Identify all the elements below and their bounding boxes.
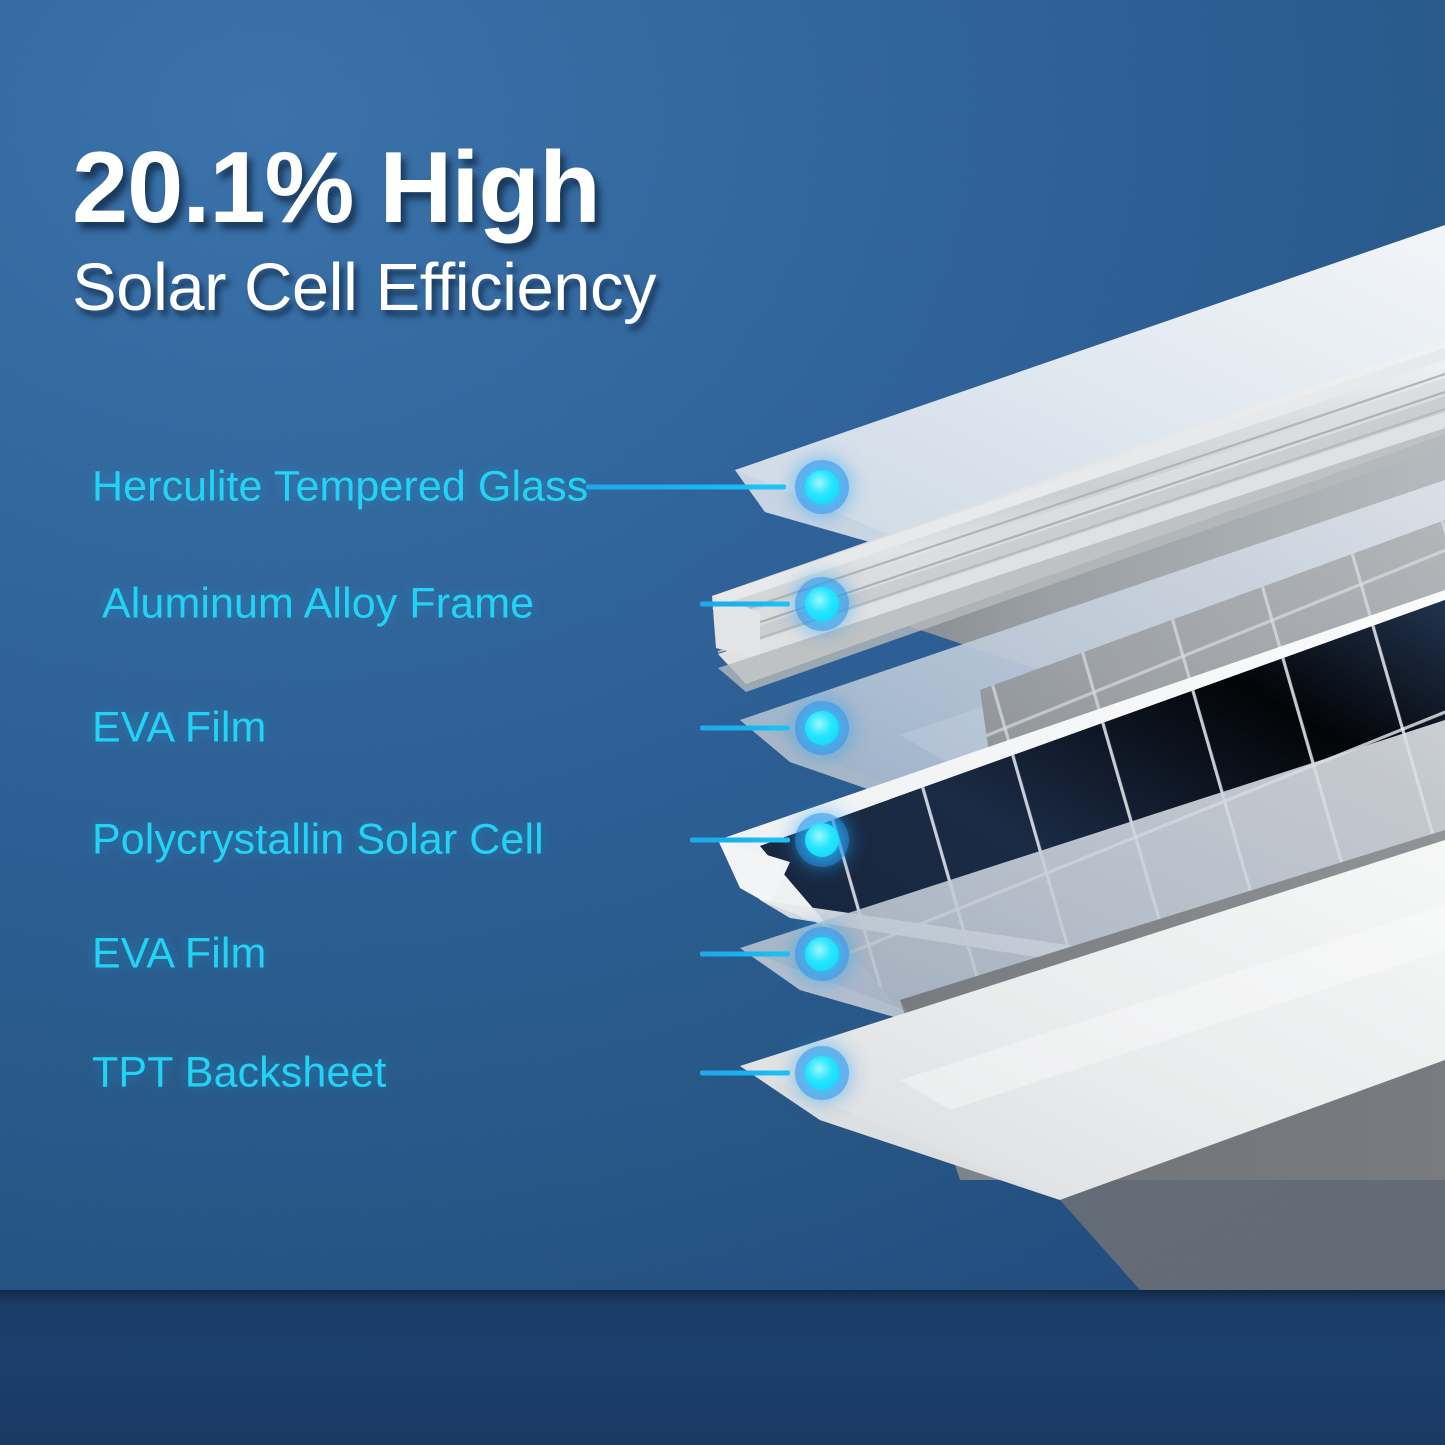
leader-line-eva-film-bottom bbox=[700, 952, 790, 957]
callout-label-eva-film-bottom: EVA Film bbox=[92, 930, 266, 979]
bottom-band-edge bbox=[0, 1290, 1445, 1304]
callout-label-herculite-tempered-glass: Herculite Tempered Glass bbox=[92, 463, 588, 512]
solar-panel-infographic: 20.1%High Solar Cell Efficiency Herculit… bbox=[0, 0, 1445, 1445]
callout-dot-aluminum-alloy-frame[interactable] bbox=[795, 577, 849, 631]
leader-line-herculite-tempered-glass bbox=[586, 485, 786, 490]
headline-block: 20.1%High Solar Cell Efficiency bbox=[72, 136, 892, 326]
callout-label-polycrystallin-solar-cell: Polycrystallin Solar Cell bbox=[92, 816, 544, 865]
callout-dot-eva-film-top[interactable] bbox=[795, 701, 849, 755]
leader-line-eva-film-top bbox=[700, 726, 790, 731]
callout-label-aluminum-alloy-frame: Aluminum Alloy Frame bbox=[102, 580, 534, 629]
headline-value: 20.1% bbox=[72, 132, 353, 244]
leader-line-tpt-backsheet bbox=[700, 1071, 790, 1076]
leader-line-aluminum-alloy-frame bbox=[700, 602, 790, 607]
callout-label-eva-film-top: EVA Film bbox=[92, 704, 266, 753]
leader-line-polycrystallin-solar-cell bbox=[690, 838, 790, 843]
callout-dot-tpt-backsheet[interactable] bbox=[795, 1046, 849, 1100]
headline-word: High bbox=[379, 132, 599, 244]
callout-dot-polycrystallin-solar-cell[interactable] bbox=[795, 813, 849, 867]
subheadline: Solar Cell Efficiency bbox=[72, 249, 892, 326]
callout-label-tpt-backsheet: TPT Backsheet bbox=[92, 1049, 386, 1098]
callout-dot-eva-film-bottom[interactable] bbox=[795, 927, 849, 981]
headline: 20.1%High bbox=[72, 136, 892, 241]
callout-dot-herculite-tempered-glass[interactable] bbox=[795, 460, 849, 514]
bottom-band bbox=[0, 1290, 1445, 1445]
